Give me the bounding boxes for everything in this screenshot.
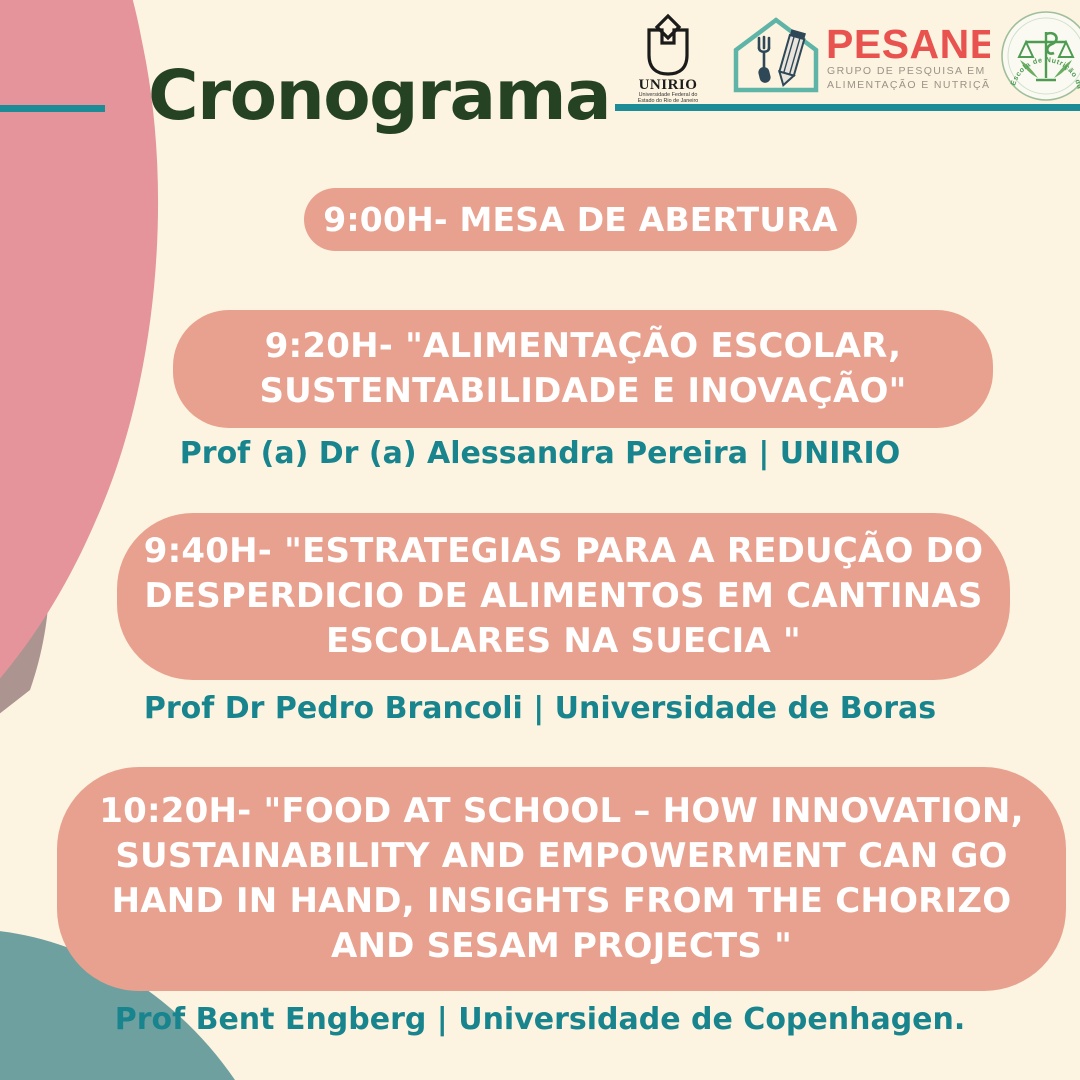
- schedule-pill-3: 9:40H- "ESTRATEGIAS PARA A REDUÇÃO DO DE…: [117, 513, 1010, 680]
- schedule-poster: Cronograma UNIRIO Universidade Federal d…: [0, 0, 1080, 1080]
- pill-line: SUSTAINABILITY AND EMPOWERMENT CAN GO: [115, 836, 1007, 876]
- pill-line: AND SESAM PROJECTS ": [331, 926, 792, 966]
- header-rule-right: [615, 104, 1080, 111]
- svg-text:Estado do Rio de Janeiro: Estado do Rio de Janeiro: [638, 98, 699, 102]
- schedule-pill-1: 9:00H- MESA DE ABERTURA: [304, 188, 857, 251]
- speaker-label-2: Prof (a) Dr (a) Alessandra Pereira | UNI…: [0, 436, 1080, 471]
- pill-line: 9:00H- MESA DE ABERTURA: [323, 200, 838, 239]
- svg-text:GRUPO DE PESQUISA EM: GRUPO DE PESQUISA EM: [827, 65, 986, 77]
- speaker-label-3: Prof Dr Pedro Brancoli | Universidade de…: [0, 691, 1080, 726]
- pill-line: 10:20H- "FOOD AT SCHOOL – HOW INNOVATION…: [99, 791, 1023, 831]
- svg-text:ALIMENTAÇÃO E NUTRIÇÃO ESCOLAR: ALIMENTAÇÃO E NUTRIÇÃO ESCOLAR: [827, 78, 990, 91]
- house-fork-pencil-icon: [736, 20, 816, 90]
- pill-line: 9:20H- "ALIMENTAÇÃO ESCOLAR,: [265, 326, 902, 366]
- pesane-logo: PESANE GRUPO DE PESQUISA EM ALIMENTAÇÃO …: [728, 12, 990, 100]
- pill-line: SUSTENTABILIDADE E INOVAÇÃO": [260, 371, 907, 411]
- logo-row: UNIRIO Universidade Federal do Estado do…: [618, 8, 1080, 103]
- schedule-pill-2: 9:20H- "ALIMENTAÇÃO ESCOLAR, SUSTENTABIL…: [173, 310, 993, 428]
- escola-nutricao-logo: Escola de Nutrição da UNIRIO: [1000, 10, 1080, 102]
- header-rule-left: [0, 105, 105, 112]
- pill-line: HAND IN HAND, INSIGHTS FROM THE CHORIZO: [112, 881, 1012, 921]
- poster-header: Cronograma UNIRIO Universidade Federal d…: [0, 0, 1080, 150]
- unirio-logo: UNIRIO Universidade Federal do Estado do…: [618, 10, 718, 102]
- schedule-pill-4: 10:20H- "FOOD AT SCHOOL – HOW INNOVATION…: [57, 767, 1066, 991]
- svg-text:PESANE: PESANE: [826, 21, 990, 67]
- pill-line: ESCOLARES NA SUECIA ": [326, 621, 801, 661]
- page-title: Cronograma: [148, 62, 610, 131]
- pill-line: 9:40H- "ESTRATEGIAS PARA A REDUÇÃO DO: [144, 531, 983, 571]
- speaker-label-4: Prof Bent Engberg | Universidade de Cope…: [0, 1002, 1080, 1037]
- svg-text:UNIRIO: UNIRIO: [639, 77, 698, 93]
- pill-line: DESPERDICIO DE ALIMENTOS EM CANTINAS: [144, 576, 982, 616]
